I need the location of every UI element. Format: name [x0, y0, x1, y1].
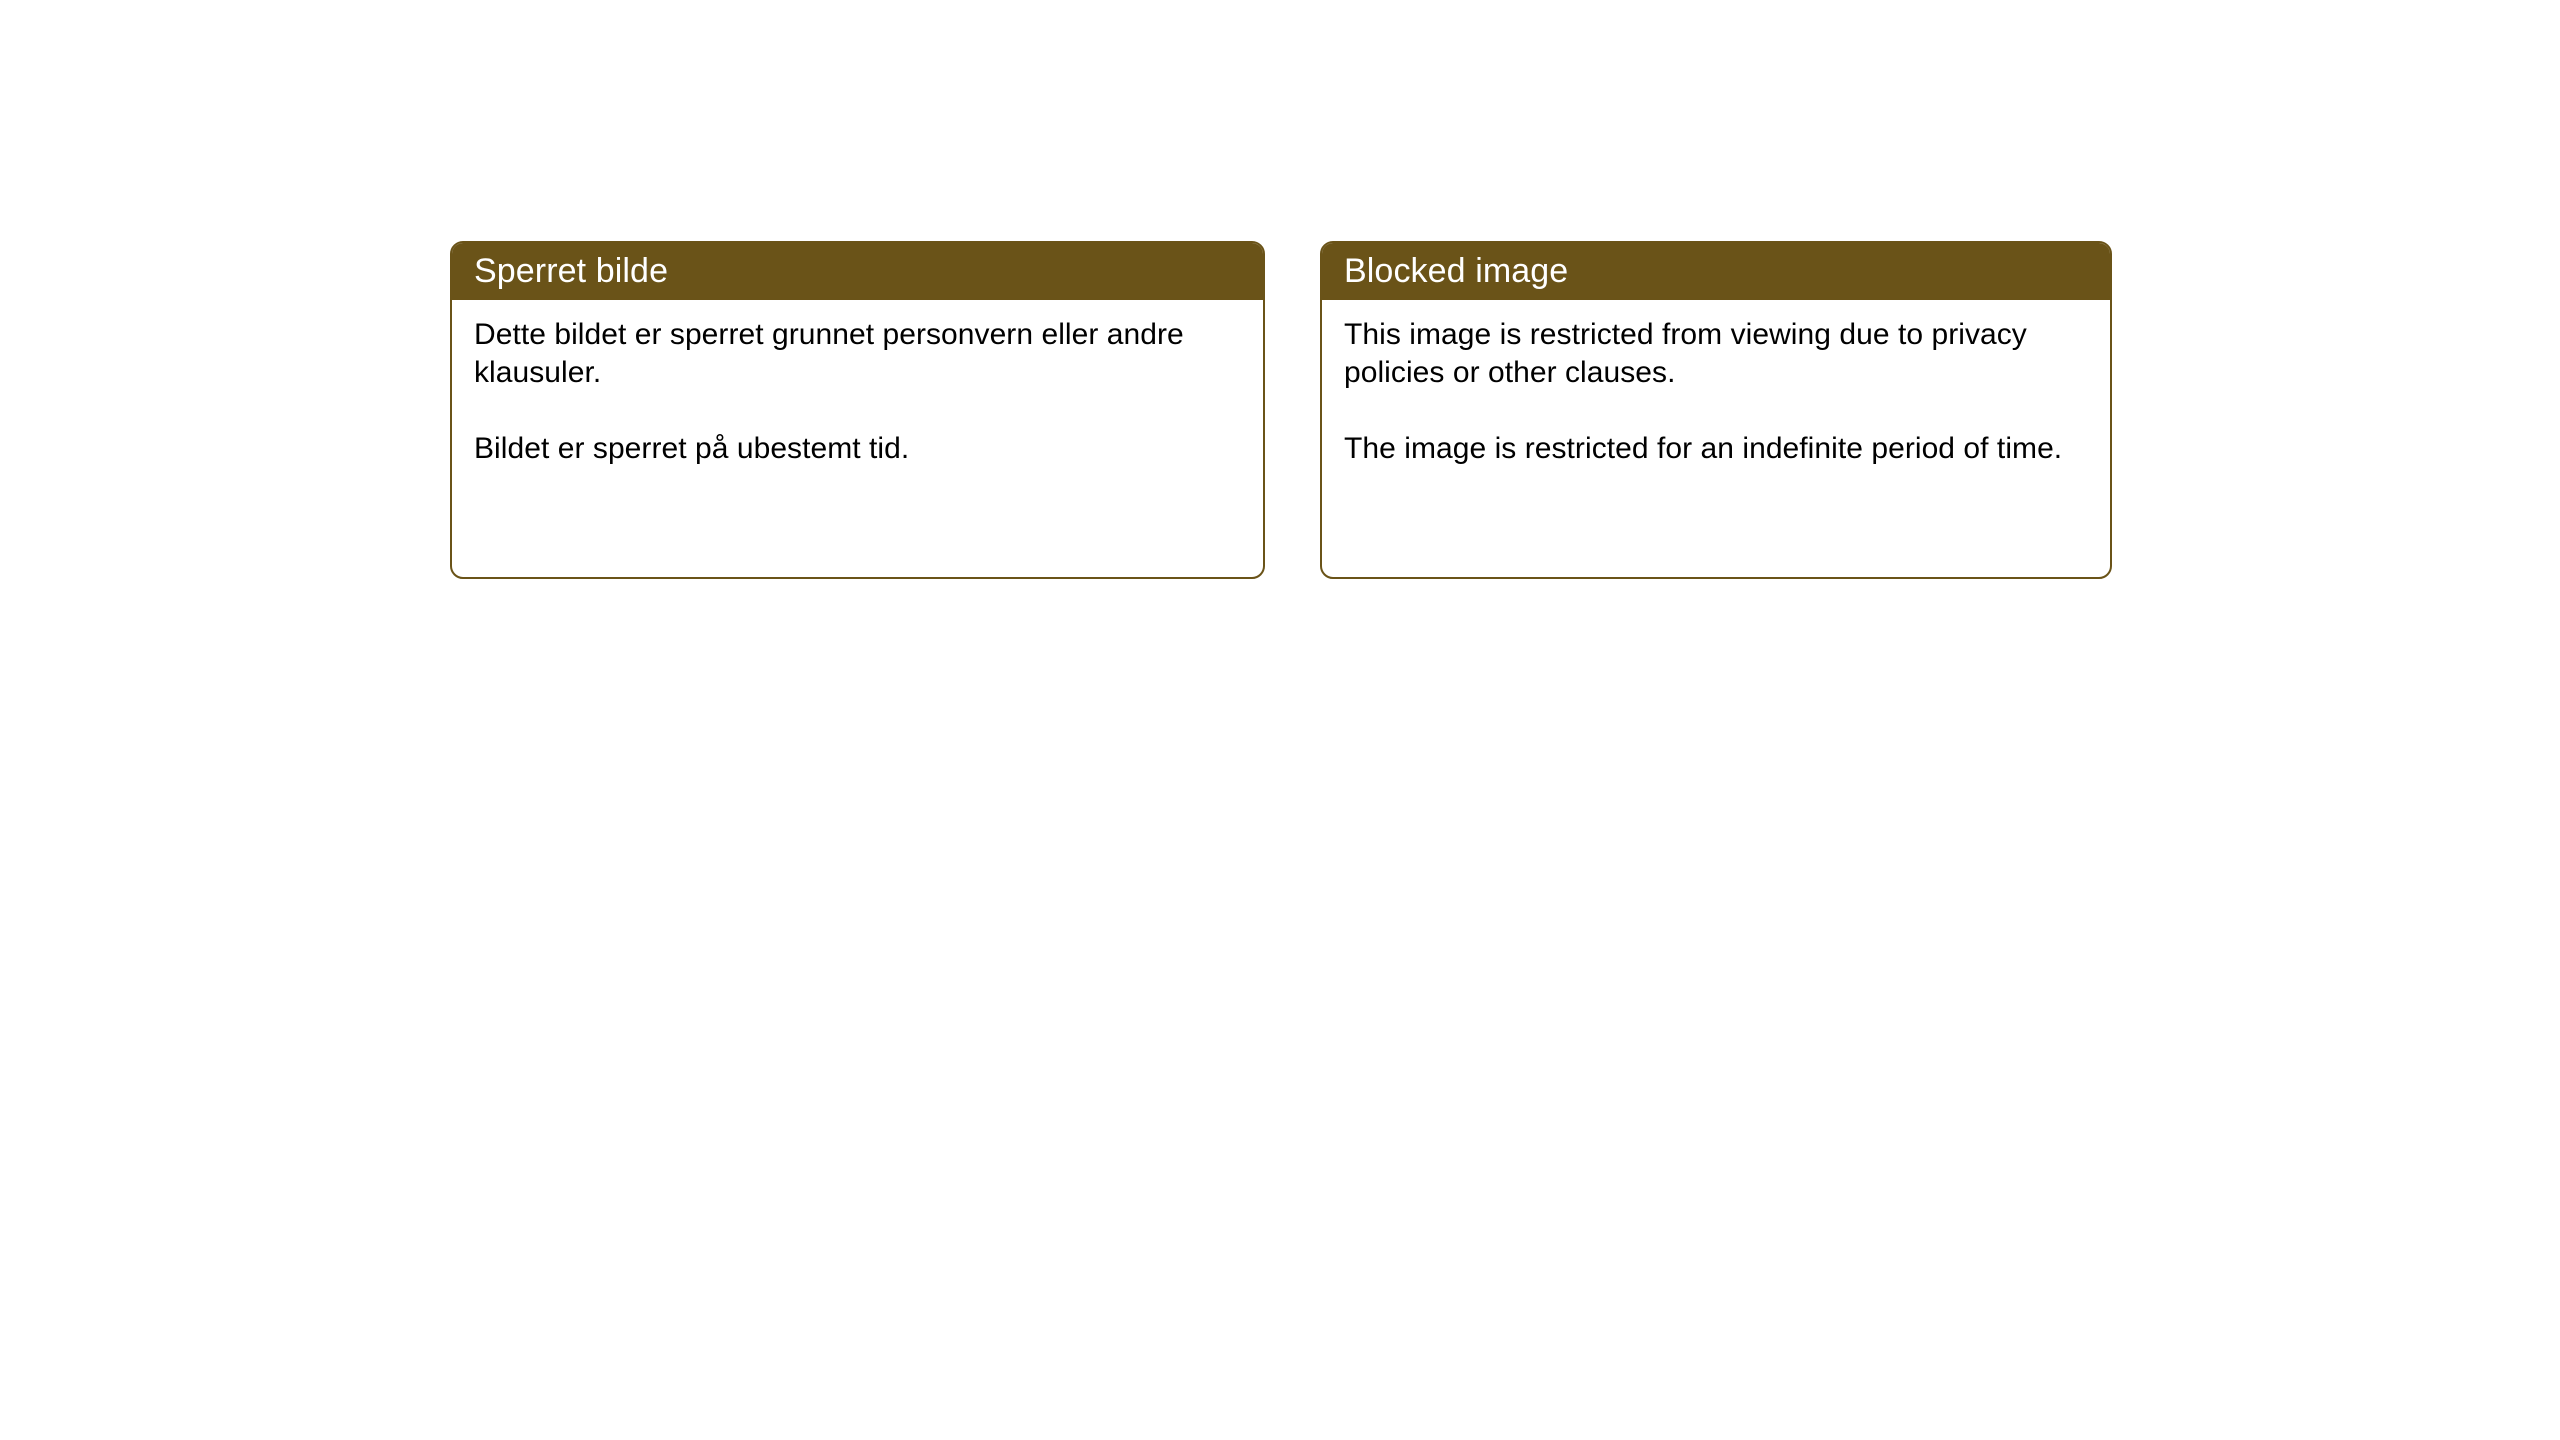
panel-title-english: Blocked image [1344, 254, 1568, 288]
panel-paragraph-norwegian-1: Dette bildet er sperret grunnet personve… [474, 316, 1241, 392]
paragraph-spacer [1344, 392, 2088, 430]
blocked-image-notice-english: Blocked image This image is restricted f… [1320, 241, 2112, 579]
blocked-image-notice-norwegian: Sperret bilde Dette bildet er sperret gr… [450, 241, 1265, 579]
panel-paragraph-english-2: The image is restricted for an indefinit… [1344, 430, 2088, 468]
paragraph-spacer [474, 392, 1241, 430]
page-canvas: Sperret bilde Dette bildet er sperret gr… [0, 0, 2560, 1440]
panel-paragraph-norwegian-2: Bildet er sperret på ubestemt tid. [474, 430, 1241, 468]
panel-body-norwegian: Dette bildet er sperret grunnet personve… [452, 300, 1263, 468]
panel-body-english: This image is restricted from viewing du… [1322, 300, 2110, 468]
panel-header-norwegian: Sperret bilde [450, 241, 1265, 300]
panel-title-norwegian: Sperret bilde [474, 254, 668, 288]
panel-header-english: Blocked image [1320, 241, 2112, 300]
panel-paragraph-english-1: This image is restricted from viewing du… [1344, 316, 2088, 392]
